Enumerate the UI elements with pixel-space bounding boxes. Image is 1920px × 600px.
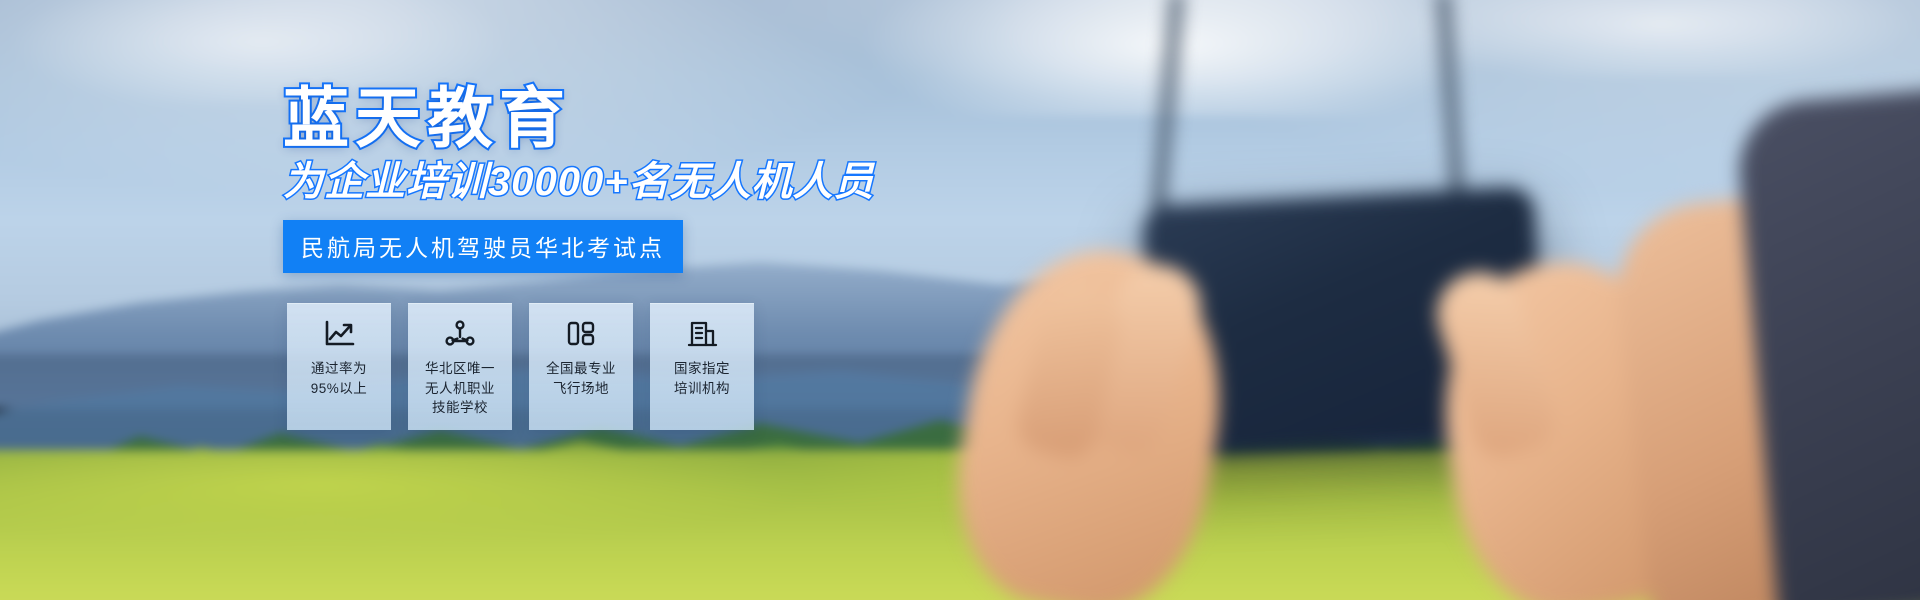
network-nodes-icon	[443, 318, 477, 350]
feature-card-flight-field[interactable]: 全国最专业 飞行场地	[529, 303, 633, 430]
card-line: 技能学校	[425, 398, 495, 418]
feature-card-text: 华北区唯一 无人机职业 技能学校	[425, 359, 495, 418]
feature-card-vocational-school[interactable]: 华北区唯一 无人机职业 技能学校	[408, 303, 512, 430]
feature-card-national-institution[interactable]: 国家指定 培训机构	[650, 303, 754, 430]
feature-card-text: 全国最专业 飞行场地	[546, 359, 616, 398]
card-line: 全国最专业	[546, 359, 616, 379]
feature-card-list: 通过率为 95%以上 华北区唯一	[287, 303, 754, 430]
card-line: 通过率为	[311, 359, 368, 379]
card-line: 95%以上	[311, 379, 368, 399]
panels-icon	[564, 318, 598, 350]
chart-growth-icon	[322, 318, 356, 350]
card-line: 国家指定	[674, 359, 730, 379]
card-line: 飞行场地	[546, 379, 616, 399]
card-line: 培训机构	[674, 379, 730, 399]
card-line: 无人机职业	[425, 379, 495, 399]
banner-subtitle: 为企业培训30000+名无人机人员	[283, 160, 875, 204]
feature-card-text: 通过率为 95%以上	[311, 359, 368, 398]
hero-banner: 蓝天教育 为企业培训30000+名无人机人员 民航局无人机驾驶员华北考试点 通过…	[0, 0, 1920, 600]
card-line: 华北区唯一	[425, 359, 495, 379]
banner-title: 蓝天教育	[283, 84, 571, 153]
feature-card-text: 国家指定 培训机构	[674, 359, 730, 398]
certification-badge: 民航局无人机驾驶员华北考试点	[283, 220, 683, 273]
banner-content: 蓝天教育 为企业培训30000+名无人机人员 民航局无人机驾驶员华北考试点 通过…	[0, 0, 1920, 600]
building-icon	[685, 318, 719, 350]
feature-card-pass-rate[interactable]: 通过率为 95%以上	[287, 303, 391, 430]
